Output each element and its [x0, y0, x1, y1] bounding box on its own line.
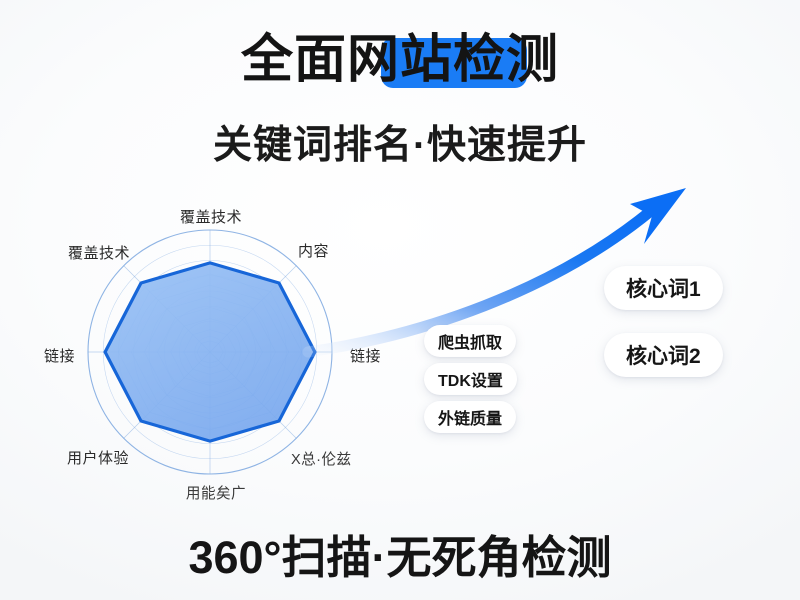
- feature-pill-1[interactable]: TDK设置: [424, 363, 517, 395]
- keyword-pill-0[interactable]: 核心词1: [604, 266, 723, 310]
- radar-axis-label-4: 用能矣广: [186, 482, 246, 503]
- radar-axis-label-5: 用户体验: [67, 447, 129, 468]
- feature-pill-0[interactable]: 爬虫抓取: [424, 325, 516, 357]
- keyword-pill-1[interactable]: 核心词2: [604, 333, 723, 377]
- radar-axis-label-6: 链接: [44, 345, 75, 366]
- title-full: 全面网站检测: [241, 31, 559, 89]
- title-text: 全面网站检测: [241, 34, 559, 86]
- radar-axis-label-7: 覆盖技术: [68, 242, 130, 263]
- footer-headline: 360°扫描·无死角检测: [0, 521, 800, 586]
- radar-axis-label-3: X总·伦兹: [291, 448, 352, 469]
- poster-canvas: 全面网站检测 关键词排名·快速提升 覆盖技术内容链接X总·伦兹用能矣广用户体验链…: [0, 0, 800, 600]
- page-title: 全面网站检测: [0, 34, 800, 86]
- page-subtitle: 关键词排名·快速提升: [0, 114, 800, 170]
- feature-pill-2[interactable]: 外链质量: [424, 401, 516, 433]
- radar-axis-label-0: 覆盖技术: [180, 206, 242, 227]
